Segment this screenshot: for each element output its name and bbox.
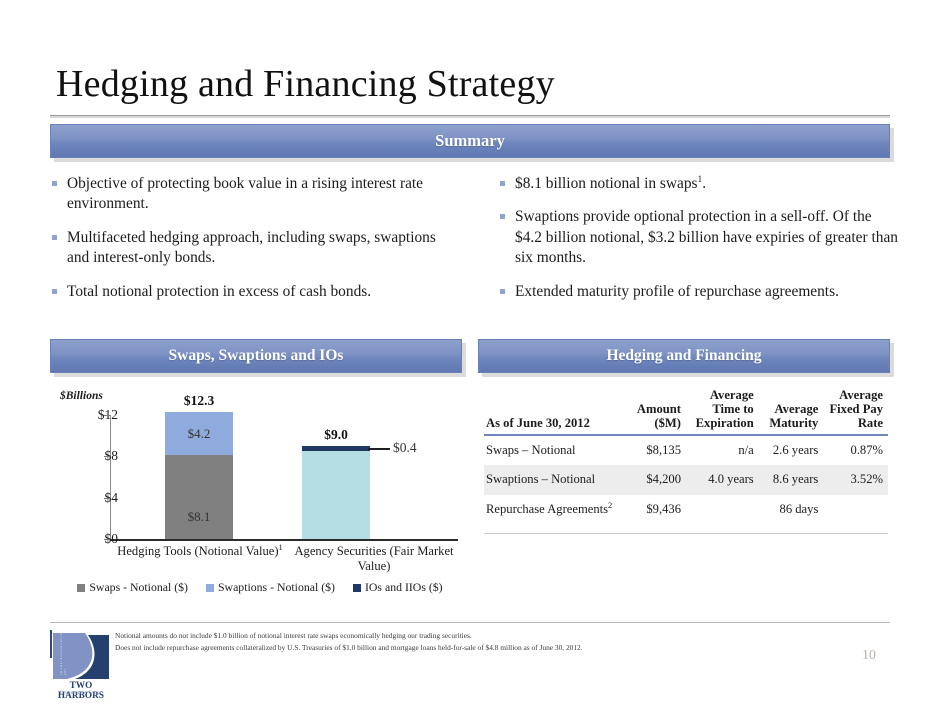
table-cell-fixed-pay-rate: 3.52% [823,465,888,494]
table-header-as-of: As of June 30, 2012 [484,388,621,435]
table-header-average-maturity: Average Maturity [759,388,824,435]
bar-hedging-tools: $4.2 $8.1 $12.3 [165,412,233,539]
chart-y-unit-label: $Billions [60,390,103,402]
table-header-row: As of June 30, 2012 Amount ($M) Average … [484,388,888,435]
table-header-line: Maturity [759,416,819,430]
table-header-line: ($M) [621,416,681,430]
chart-banner-label: Swaps, Swaptions and IOs [169,347,344,365]
title-divider [50,115,890,118]
bullet-text: Extended maturity profile of repurchase … [515,283,839,300]
ios-callout-label: $0.4 [393,440,417,456]
bar-segment-label-swaptions: $4.2 [165,426,233,442]
bullet-square-icon [52,235,57,240]
legend-item-ios: IOs and IIOs ($) [353,580,443,595]
bar-segment-label-swaps: $8.1 [165,509,233,525]
footnote-item: (1) Notional amounts do not include $1.0… [88,630,848,642]
summary-bullets-right: $8.1 billion notional in swaps1. Swaptio… [500,174,900,302]
x-category-text: Hedging Tools (Notional Value) [117,544,278,558]
bullet-text-tail: . [702,175,706,192]
table-cell-label: Repurchase Agreements2 [484,495,621,534]
footnote-text: Notional amounts do not include $1.0 bil… [115,630,472,642]
legend-item-swaptions: Swaptions - Notional ($) [206,580,335,595]
legend-label: IOs and IIOs ($) [365,580,443,595]
table-header-line: Expiration [686,416,754,430]
chart-legend: Swaps - Notional ($) Swaptions - Notiona… [50,580,470,595]
legend-swatch-icon [353,584,361,592]
table-header-line: Rate [823,416,883,430]
bullet-square-icon [52,289,57,294]
list-item: Total notional protection in excess of c… [52,282,452,302]
footer-divider [50,622,890,623]
bar-agency-securities: $9.0 [302,446,370,539]
table-cell-amount: $9,436 [621,495,686,534]
page-number: 10 [862,648,876,664]
y-tick-mark [104,539,110,540]
bar-total-label-agency: $9.0 [302,427,370,443]
list-item: $8.1 billion notional in swaps1. [500,174,900,194]
table-cell-time-to-expiration: 4.0 years [686,465,759,494]
footnote-text: Does not include repurchase agreements c… [115,642,583,654]
legend-swatch-icon [77,584,85,592]
table-row: Repurchase Agreements2 $9,436 86 days [484,495,888,534]
bullet-square-icon [500,181,505,186]
bullet-text: $8.1 billion notional in swaps [515,175,698,192]
footnote-item: (2) Does not include repurchase agreemen… [88,642,848,654]
legend-label: Swaptions - Notional ($) [218,580,335,595]
legend-item-swaps: Swaps - Notional ($) [77,580,188,595]
y-tick-mark [104,456,110,457]
table-cell-amount: $4,200 [621,465,686,494]
table-header-line: Average [823,388,883,402]
table-cell-time-to-expiration [686,495,759,534]
bar-total-label-hedging-tools: $12.3 [165,393,233,409]
table-header-line: Fixed Pay [823,402,883,416]
list-item: Objective of protecting book value in a … [52,174,452,215]
table-cell-avg-maturity: 8.6 years [759,465,824,494]
logo-company-subtitle: Investment Corp. [47,690,115,696]
table-row: Swaps – Notional $8,135 n/a 2.6 years 0.… [484,435,888,465]
x-category-label-hedging-tools: Hedging Tools (Notional Value)1 [112,544,288,559]
footnotes: (1) Notional amounts do not include $1.0… [88,630,848,654]
table-cell-label: Swaps – Notional [484,435,621,465]
table-cell-fixed-pay-rate: 0.87% [823,435,888,465]
list-item: Swaptions provide optional protection in… [500,207,900,268]
table-banner: Hedging and Financing [478,339,890,373]
table-cell-label-text: Repurchase Agreements [486,502,608,516]
table-header-line: As of June 30, 2012 [486,416,616,430]
ios-callout-line [368,448,390,450]
chart-y-axis [110,415,111,539]
table-header-line: Time to [686,402,754,416]
list-item: Multifaceted hedging approach, including… [52,228,452,269]
page-title: Hedging and Financing Strategy [56,62,555,106]
bullet-square-icon [500,289,505,294]
summary-bullets-left: Objective of protecting book value in a … [52,174,452,302]
table-header-line: Average [686,388,754,402]
y-tick-mark [104,415,110,416]
table-row: Swaptions – Notional $4,200 4.0 years 8.… [484,465,888,494]
table-header-time-to-expiration: Average Time to Expiration [686,388,759,435]
company-logo: t w o h a r b o r s i n v e s t m e n t … [47,633,115,701]
table-cell-avg-maturity: 86 days [759,495,824,534]
summary-banner: Summary [50,124,890,158]
chart-x-axis [110,539,458,541]
table-cell-amount: $8,135 [621,435,686,465]
bullet-square-icon [500,214,505,219]
table-cell-avg-maturity: 2.6 years [759,435,824,465]
bullet-text: Swaptions provide optional protection in… [515,208,898,266]
legend-label: Swaps - Notional ($) [89,580,188,595]
x-category-text: Agency Securities (Fair Market Value) [294,544,453,573]
two-harbors-mark-icon: t w o h a r b o r s i n v e s t m e n t [53,633,109,679]
hedging-financing-table: As of June 30, 2012 Amount ($M) Average … [484,388,888,534]
table-cell-fixed-pay-rate [823,495,888,534]
table-header-fixed-pay-rate: Average Fixed Pay Rate [823,388,888,435]
logo-vertical-text: t w o h a r b o r s i n v e s t m e n t [59,633,67,675]
table-header-line: Average [759,402,819,416]
list-item: Extended maturity profile of repurchase … [500,282,900,302]
slide: Hedging and Financing Strategy Summary O… [0,0,940,705]
bullet-text: Objective of protecting book value in a … [67,175,423,212]
bar-segment-swaps [165,455,233,539]
table-header-amount: Amount ($M) [621,388,686,435]
summary-banner-label: Summary [435,131,505,151]
table-header-line: Amount [621,402,681,416]
bar-chart: $Billions $12 $8 $4 $0 $4.2 $8.1 $12.3 $… [50,390,470,600]
bar-segment-agency [302,451,370,539]
bullet-square-icon [52,181,57,186]
table-banner-label: Hedging and Financing [606,347,761,365]
bullet-text: Total notional protection in excess of c… [67,283,371,300]
footnote-ref-2: 2 [608,499,612,509]
bullet-text: Multifaceted hedging approach, including… [67,229,436,266]
x-category-label-agency: Agency Securities (Fair Market Value) [278,544,470,574]
chart-banner: Swaps, Swaptions and IOs [50,339,462,373]
y-tick-mark [104,498,110,499]
table-cell-time-to-expiration: n/a [686,435,759,465]
table-cell-label: Swaptions – Notional [484,465,621,494]
legend-swatch-icon [206,584,214,592]
